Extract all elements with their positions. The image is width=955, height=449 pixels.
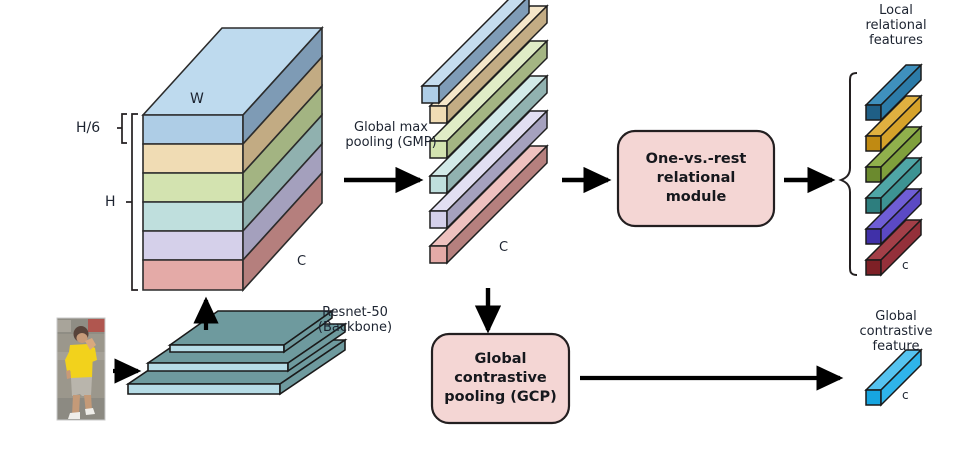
- label-c-local: c: [902, 258, 909, 272]
- bracket-h-over-6: [117, 114, 127, 143]
- global-contrastive-bar: [866, 350, 921, 405]
- label-c-gmp: C: [499, 240, 508, 255]
- pedestrian-input-image: [57, 318, 105, 420]
- backbone-label: Resnet-50 (Backbone): [300, 305, 410, 335]
- label-c-cuboid: C: [297, 254, 306, 269]
- diagram-vector-layer: [0, 0, 955, 449]
- local-relational-bars: [866, 65, 921, 275]
- relational-module-box[interactable]: [618, 131, 774, 226]
- local-features-label: Local relational features: [848, 3, 944, 48]
- feature-map-cuboid: [143, 28, 322, 290]
- global-feature-label: Global contrastive feature: [848, 309, 944, 354]
- diagram-canvas: W H/6 H C Global max pooling (GMP) C Res…: [0, 0, 955, 449]
- gcp-module-box[interactable]: [432, 334, 569, 423]
- bracket-h: [126, 114, 138, 290]
- label-c-global: c: [902, 388, 909, 402]
- label-h-over-6: H/6: [76, 120, 100, 136]
- label-w: W: [190, 91, 204, 107]
- label-h: H: [105, 194, 116, 210]
- local-features-brace: [841, 73, 857, 275]
- gmp-label: Global max pooling (GMP): [336, 120, 446, 150]
